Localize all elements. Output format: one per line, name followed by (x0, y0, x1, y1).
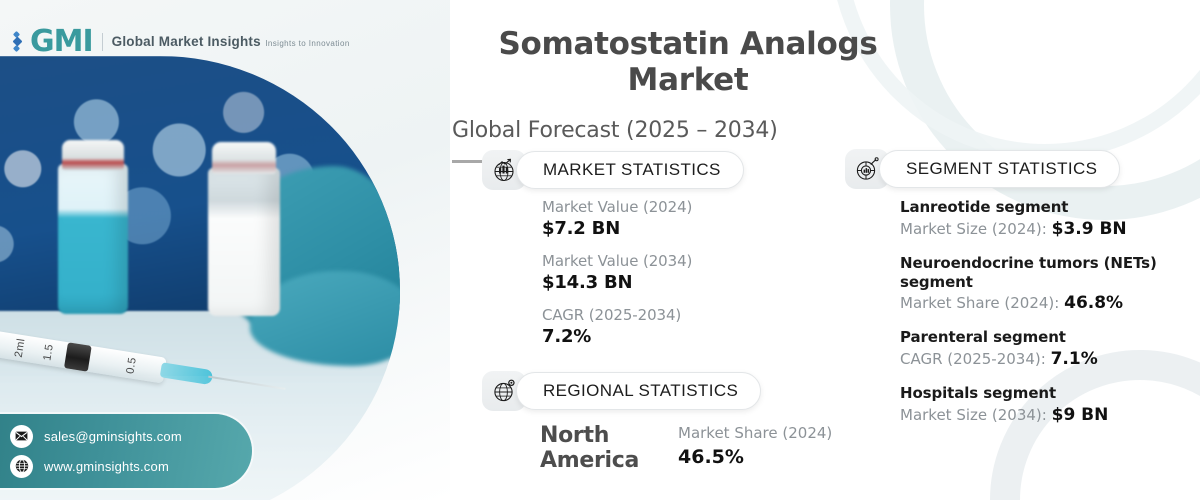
market-statistics-header[interactable]: MARKET STATISTICS (482, 150, 744, 190)
contact-badge: sales@gminsights.com www.gminsights.com (0, 414, 252, 488)
logo-diamond-mark-icon (14, 32, 21, 51)
segment-metric-label: Market Size (2024): (900, 220, 1047, 238)
segment-item: Neuroendocrine tumors (NETs) segment Mar… (900, 254, 1200, 315)
syringe-stopper (64, 342, 92, 371)
segment-metric-label: Market Share (2024): (900, 294, 1059, 312)
segment-metric-value: 7.1% (1051, 349, 1098, 369)
segment-statistics-header[interactable]: SEGMENT STATISTICS (845, 149, 1120, 189)
segment-metric: Market Share (2024): 46.8% (900, 292, 1200, 314)
contact-email-text: sales@gminsights.com (44, 429, 182, 444)
contact-email-row[interactable]: sales@gminsights.com (10, 425, 252, 448)
market-statistics-label: MARKET STATISTICS (516, 151, 744, 189)
segment-item: Hospitals segment Market Size (2034): $9… (900, 384, 1200, 426)
segment-title: Hospitals segment (900, 384, 1200, 403)
segment-statistics-body: Lanreotide segment Market Size (2024): $… (900, 198, 1200, 440)
page-subtitle: Global Forecast (2025 – 2034) (452, 118, 1152, 143)
segment-metric-value: 46.8% (1064, 293, 1123, 313)
regional-statistics-body: North America Market Share (2024) 46.5% (540, 424, 832, 473)
brand-logo[interactable]: GMI Global Market Insights Insights to I… (14, 24, 350, 59)
vial-blue-liquid (58, 164, 128, 314)
region-share-label: Market Share (2024) (678, 424, 832, 442)
vial-white-cap (212, 142, 276, 174)
segment-item: Lanreotide segment Market Size (2024): $… (900, 198, 1200, 240)
region-share-value: 46.5% (678, 446, 832, 468)
cagr-value: 7.2% (542, 326, 692, 347)
vial-white (208, 168, 280, 316)
globe-icon (10, 455, 33, 478)
segment-title: Parenteral segment (900, 328, 1200, 347)
segment-metric-value: $9 BN (1052, 405, 1109, 425)
segment-title: Lanreotide segment (900, 198, 1200, 217)
syringe-mark-0-5: 0.5 (124, 356, 138, 374)
logo-wordmark: Global Market Insights Insights to Innov… (102, 33, 350, 51)
market-value-2024-value: $7.2 BN (542, 218, 692, 239)
segment-statistics-label: SEGMENT STATISTICS (879, 150, 1120, 188)
segment-title: Neuroendocrine tumors (NETs) segment (900, 254, 1200, 292)
region-share-block: Market Share (2024) 46.5% (678, 424, 832, 468)
cagr-label: CAGR (2025-2034) (542, 306, 692, 324)
segment-item: Parenteral segment CAGR (2025-2034): 7.1… (900, 328, 1200, 370)
logo-company-name: Global Market Insights (112, 34, 261, 49)
regional-statistics-header[interactable]: REGIONAL STATISTICS (482, 371, 761, 411)
page-title: Somatostatin Analogs Market (452, 26, 924, 98)
region-name: North America (540, 424, 650, 473)
market-value-2034-value: $14.3 BN (542, 272, 692, 293)
header: Somatostatin Analogs Market Global Forec… (452, 26, 1152, 163)
regional-statistics-label: REGIONAL STATISTICS (516, 372, 761, 410)
logo-gmi-text: GMI (30, 24, 93, 59)
segment-metric-label: Market Size (2034): (900, 406, 1047, 424)
envelope-icon (10, 425, 33, 448)
segment-metric-label: CAGR (2025-2034): (900, 350, 1046, 368)
vial-blue-cap (62, 140, 124, 170)
segment-metric: Market Size (2024): $3.9 BN (900, 218, 1200, 240)
contact-website-row[interactable]: www.gminsights.com (10, 455, 252, 478)
market-statistics-body: Market Value (2024) $7.2 BN Market Value… (542, 198, 692, 360)
logo-tagline: Insights to Innovation (265, 39, 349, 48)
segment-metric-value: $3.9 BN (1052, 219, 1127, 239)
infographic-canvas: 2ml 1.5 0.5 sales@gminsights.com (0, 0, 1200, 500)
segment-metric: Market Size (2034): $9 BN (900, 404, 1200, 426)
market-value-2024-label: Market Value (2024) (542, 198, 692, 216)
syringe-mark-1-5: 1.5 (41, 343, 55, 361)
segment-metric: CAGR (2025-2034): 7.1% (900, 348, 1200, 370)
syringe-mark-2ml: 2ml (13, 337, 28, 358)
market-value-2034-label: Market Value (2034) (542, 252, 692, 270)
contact-website-text: www.gminsights.com (44, 459, 169, 474)
